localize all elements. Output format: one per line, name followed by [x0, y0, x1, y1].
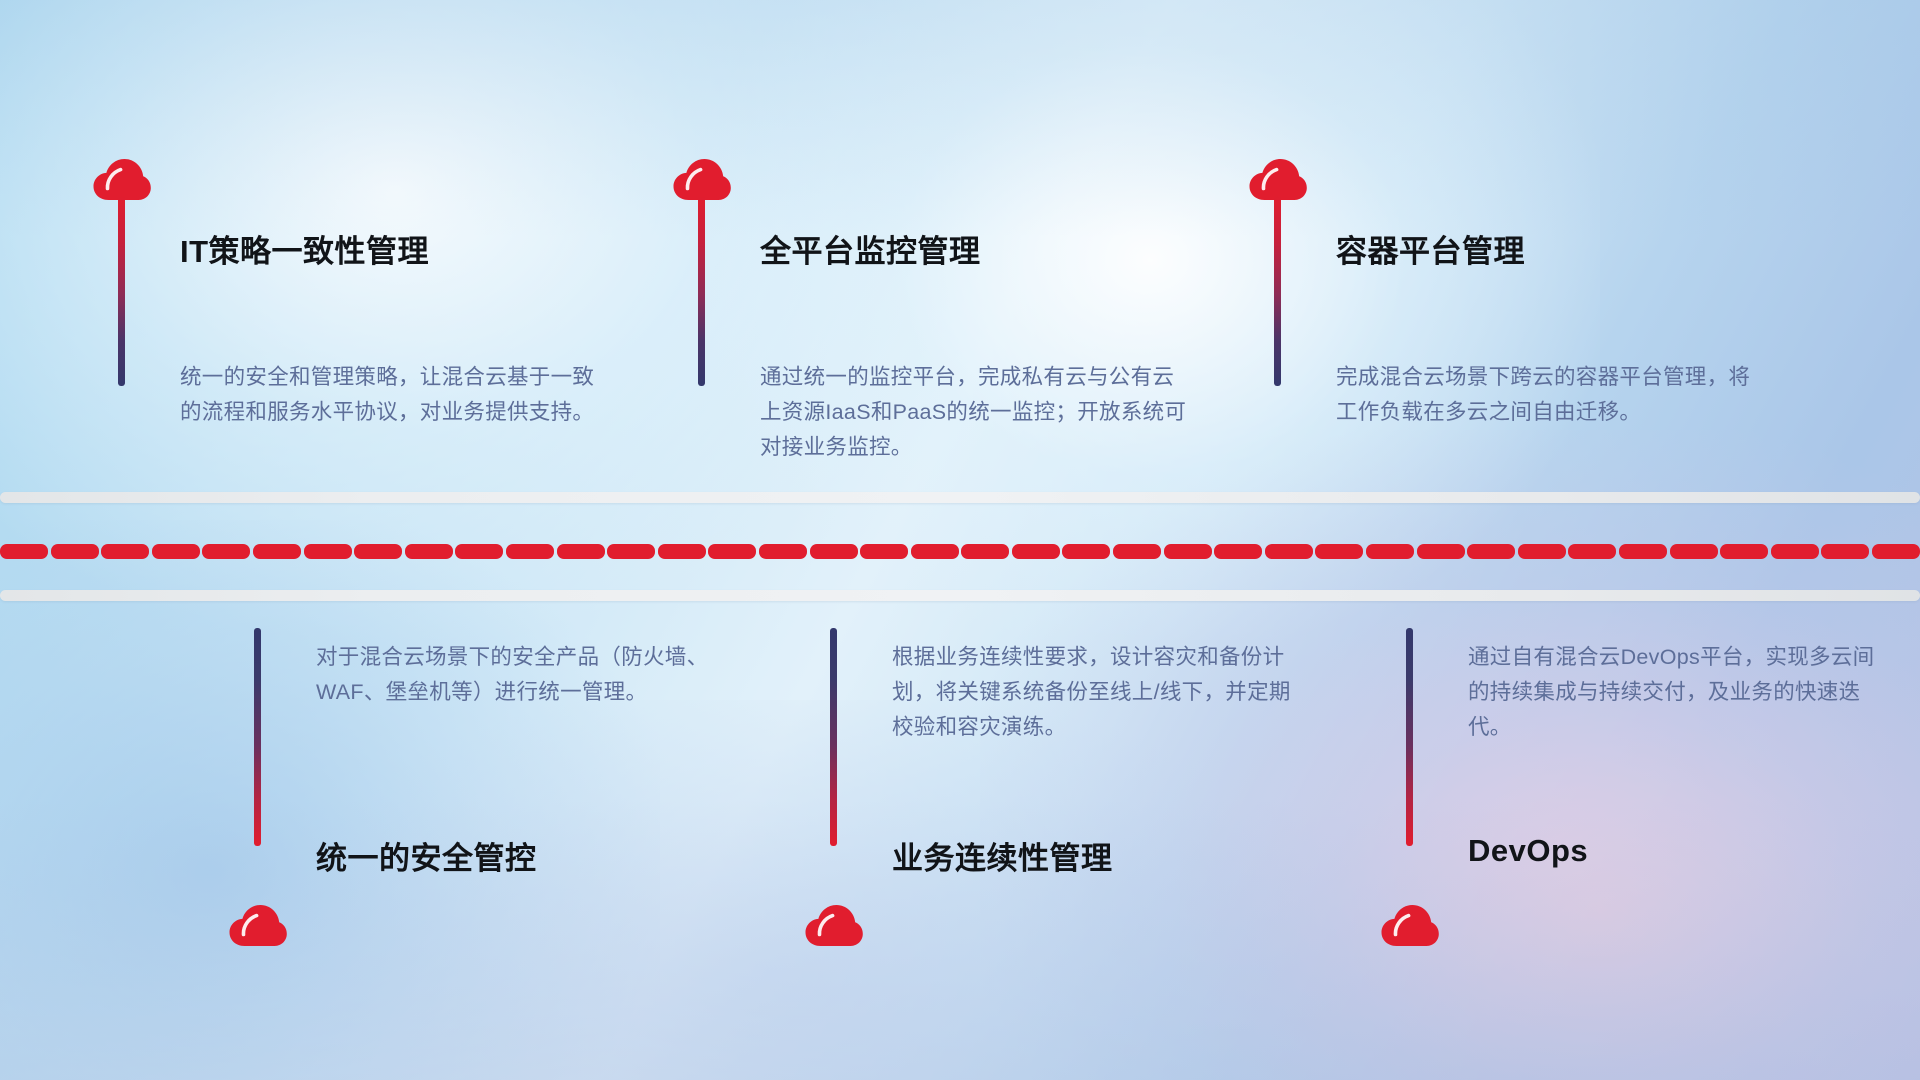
item-title: 全平台监控管理: [760, 226, 981, 271]
pin-stem: [118, 196, 125, 386]
item-title: 容器平台管理: [1336, 226, 1525, 271]
item-title: DevOps: [1468, 833, 1588, 869]
cloud-icon: [804, 903, 864, 948]
item-description: 统一的安全和管理策略，让混合云基于一致的流程和服务水平协议，对业务提供支持。: [180, 360, 610, 430]
item-description: 对于混合云场景下的安全产品（防火墙、WAF、堡垒机等）进行统一管理。: [316, 640, 736, 710]
cloud-icon: [1380, 903, 1440, 948]
item-description: 通过自有混合云DevOps平台，实现多云间的持续集成与持续交付，及业务的快速迭代…: [1468, 640, 1888, 744]
pin-stem: [698, 196, 705, 386]
background-vignette: [0, 0, 1920, 1080]
pin-stem: [830, 628, 837, 846]
cloud-icon: [228, 903, 288, 948]
infographic-stage: IT策略一致性管理 统一的安全和管理策略，让混合云基于一致的流程和服务水平协议，…: [0, 0, 1920, 1080]
item-description: 完成混合云场景下跨云的容器平台管理，将工作负载在多云之间自由迁移。: [1336, 360, 1766, 430]
pin-stem: [1274, 196, 1281, 386]
item-title: IT策略一致性管理: [180, 226, 429, 271]
item-description: 根据业务连续性要求，设计容灾和备份计划，将关键系统备份至线上/线下，并定期校验和…: [892, 640, 1312, 744]
pin-stem: [1406, 628, 1413, 846]
item-title: 业务连续性管理: [892, 833, 1113, 878]
pin-stem: [254, 628, 261, 846]
item-title: 统一的安全管控: [316, 833, 537, 878]
item-description: 通过统一的监控平台，完成私有云与公有云上资源IaaS和PaaS的统一监控；开放系…: [760, 360, 1190, 464]
